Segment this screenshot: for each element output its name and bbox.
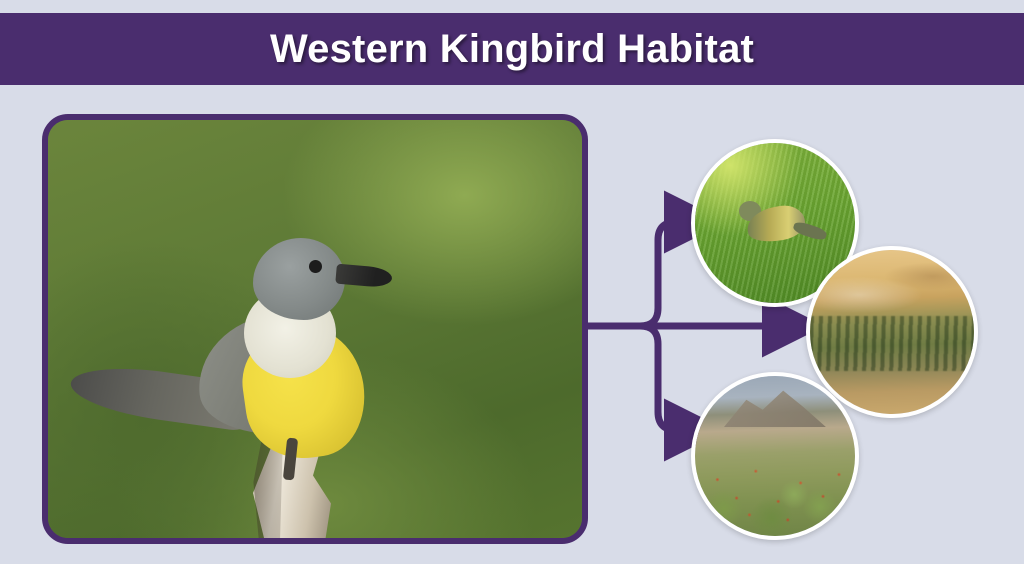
slide-canvas: Western Kingbird Habitat: [0, 0, 1024, 576]
arrow-to-grassland: [588, 222, 678, 326]
bird-head: [253, 238, 345, 320]
shrubland-red-flowers: [695, 446, 855, 529]
desert-dunes: [810, 250, 974, 325]
bottom-margin-strip: [0, 564, 1024, 576]
desert-scrub-band: [810, 316, 974, 372]
top-margin-strip: [0, 0, 1024, 13]
bird-eye: [309, 260, 322, 273]
title-bar: Western Kingbird Habitat: [0, 13, 1024, 85]
western-kingbird-photo: [42, 114, 588, 544]
arrow-to-shrubland: [588, 326, 678, 430]
habitat-shrubland-thumbnail: [691, 372, 859, 540]
page-title: Western Kingbird Habitat: [270, 27, 754, 72]
